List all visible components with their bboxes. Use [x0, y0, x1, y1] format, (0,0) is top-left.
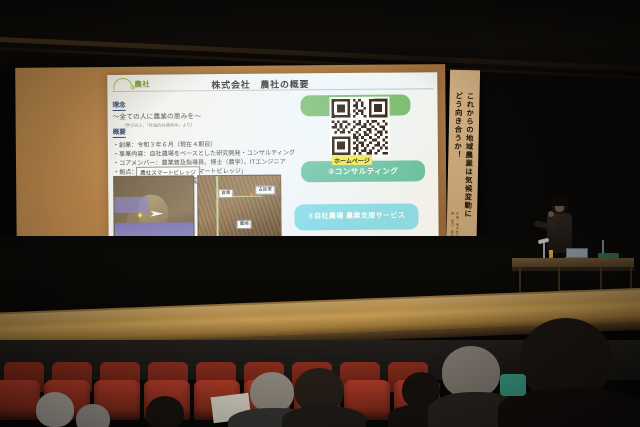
business-pill-farm-service: ③自社農場 農業支援サービス: [294, 203, 418, 230]
audience-head: [250, 372, 294, 412]
gaiyou-label: 概要: [113, 129, 126, 138]
qr-code-label: ホームページ: [332, 155, 372, 165]
rinen-label: 理念: [112, 102, 125, 111]
projection-screen: 農社 株式会社 農社の概要 理念 ～全ての人に農業の恵みを～ （学びの人、「社会…: [15, 64, 447, 258]
site-road-vertical: [216, 176, 218, 244]
audience-head: [36, 392, 74, 427]
presenter-hair: [551, 197, 568, 206]
map-location-pin: [138, 214, 141, 217]
lecture-hall-photo: 農社 株式会社 農社の概要 理念 ～全ての人に農業の恵みを～ （学びの人、「社会…: [0, 0, 640, 427]
map-arrow-icon: [143, 209, 165, 217]
qr-code-graphic: [331, 99, 387, 155]
table-apron: [512, 267, 634, 271]
presenter-table: [512, 258, 634, 267]
audience-cup: [500, 374, 526, 396]
map-tag-kominka: 古民家: [255, 186, 275, 195]
aerial-site-photo: 倉庫 古民家 農地: [197, 175, 282, 246]
audience-head: [76, 404, 110, 427]
presenter-hand: [548, 211, 554, 217]
audience-shoulders: [282, 406, 366, 427]
map-tag-nouchi: 農地: [237, 220, 252, 229]
banner-main-text: これからの地域農業は気候変動にどう向き合うか！: [451, 92, 477, 220]
audience-head: [146, 396, 184, 427]
header-divider: [111, 88, 433, 92]
map-tag-soko: 倉庫: [218, 189, 233, 198]
qr-code: [329, 97, 390, 158]
audience-head: [442, 346, 500, 398]
logo-label: 農社: [134, 78, 150, 89]
leaf-arc-icon: [113, 78, 132, 90]
projected-slide: 農社 株式会社 農社の概要 理念 ～全ての人に農業の恵みを～ （学びの人、「社会…: [107, 72, 439, 251]
hall-ceiling: [0, 0, 640, 70]
seat: [0, 380, 40, 420]
company-logo: 農社: [113, 78, 150, 90]
